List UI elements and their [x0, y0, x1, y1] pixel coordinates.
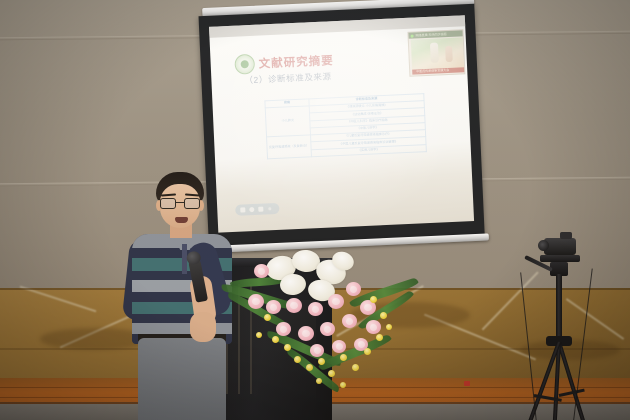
recording-indicator-icon: [411, 34, 414, 37]
yellow-orchid: [284, 344, 291, 351]
yellow-orchid: [272, 336, 279, 343]
pink-rose: [248, 294, 264, 309]
pink-rose: [366, 320, 381, 334]
camera-tripod-rig: [520, 228, 600, 420]
yellow-orchid: [316, 378, 322, 384]
mouth: [175, 217, 188, 223]
pip-video-image: [411, 37, 464, 69]
tripod-quick-release-plate: [540, 255, 580, 262]
pink-rose: [286, 298, 302, 313]
projected-slide: 文献研究摘要 （2）诊断标准及来源 疾病 诊断标准及来源 小儿肺炎 《诸病源候论…: [209, 26, 474, 232]
yellow-orchid: [340, 354, 347, 361]
camera-cable: [520, 272, 537, 420]
yellow-orchid: [256, 332, 262, 338]
yellow-orchid: [264, 314, 271, 321]
pink-rose: [298, 326, 314, 341]
floor-marker: [464, 381, 470, 386]
pink-rose: [254, 264, 269, 278]
trousers: [138, 338, 226, 420]
yellow-orchid: [352, 364, 359, 371]
yellow-orchid: [340, 382, 346, 388]
pen-icon[interactable]: [249, 207, 254, 212]
table-cell-disease: 反复呼吸道感染（反复肺炎）: [267, 135, 312, 159]
tripod-leg: [557, 341, 589, 420]
pink-rose: [332, 340, 346, 353]
yellow-orchid: [364, 348, 371, 355]
pip-footer-text: 中医药传承创新发展大会: [412, 67, 464, 74]
right-hand: [190, 312, 216, 342]
pink-rose: [266, 300, 281, 314]
wreath-emblem-icon: [234, 54, 255, 75]
pink-rose: [346, 282, 361, 296]
pip-footer: 中医药传承创新发展大会: [412, 67, 464, 74]
pink-rose: [320, 322, 335, 336]
camera-cable: [572, 269, 592, 420]
yellow-orchid: [380, 312, 387, 319]
pip-video-panel: 网络直播·现场同步画面 中医药传承创新发展大会: [407, 29, 465, 76]
pink-rose: [308, 302, 323, 316]
menu-icon[interactable]: [258, 207, 263, 212]
pink-rose: [276, 322, 291, 336]
camera-viewfinder: [560, 232, 572, 239]
floral-arrangement: [220, 248, 418, 398]
yellow-orchid: [386, 324, 392, 330]
table-cell-disease: 小儿肺炎: [265, 106, 310, 137]
pink-rose: [310, 344, 324, 357]
eyeglasses: [159, 198, 201, 209]
slide-subtitle: （2）诊断标准及来源: [244, 70, 332, 86]
yellow-orchid: [376, 334, 383, 341]
white-lily: [279, 273, 307, 297]
yellow-orchid: [306, 364, 313, 371]
yellow-orchid: [318, 358, 325, 365]
pink-rose: [328, 294, 344, 309]
slide-table: 疾病 诊断标准及来源 小儿肺炎 《诸病源候论·小儿杂病诸候》 《幼幼集成·咳嗽证…: [264, 93, 427, 159]
more-icon[interactable]: [268, 207, 271, 210]
tripod-center-column: [556, 274, 562, 340]
slide-title: 文献研究摘要: [258, 52, 334, 71]
presentation-photo: 文献研究摘要 （2）诊断标准及来源 疾病 诊断标准及来源 小儿肺炎 《诸病源候论…: [0, 0, 630, 420]
camera-lens: [538, 240, 549, 251]
yellow-orchid: [370, 296, 377, 303]
yellow-orchid: [294, 356, 301, 363]
yellow-orchid: [328, 370, 335, 377]
pink-rose: [342, 314, 357, 328]
